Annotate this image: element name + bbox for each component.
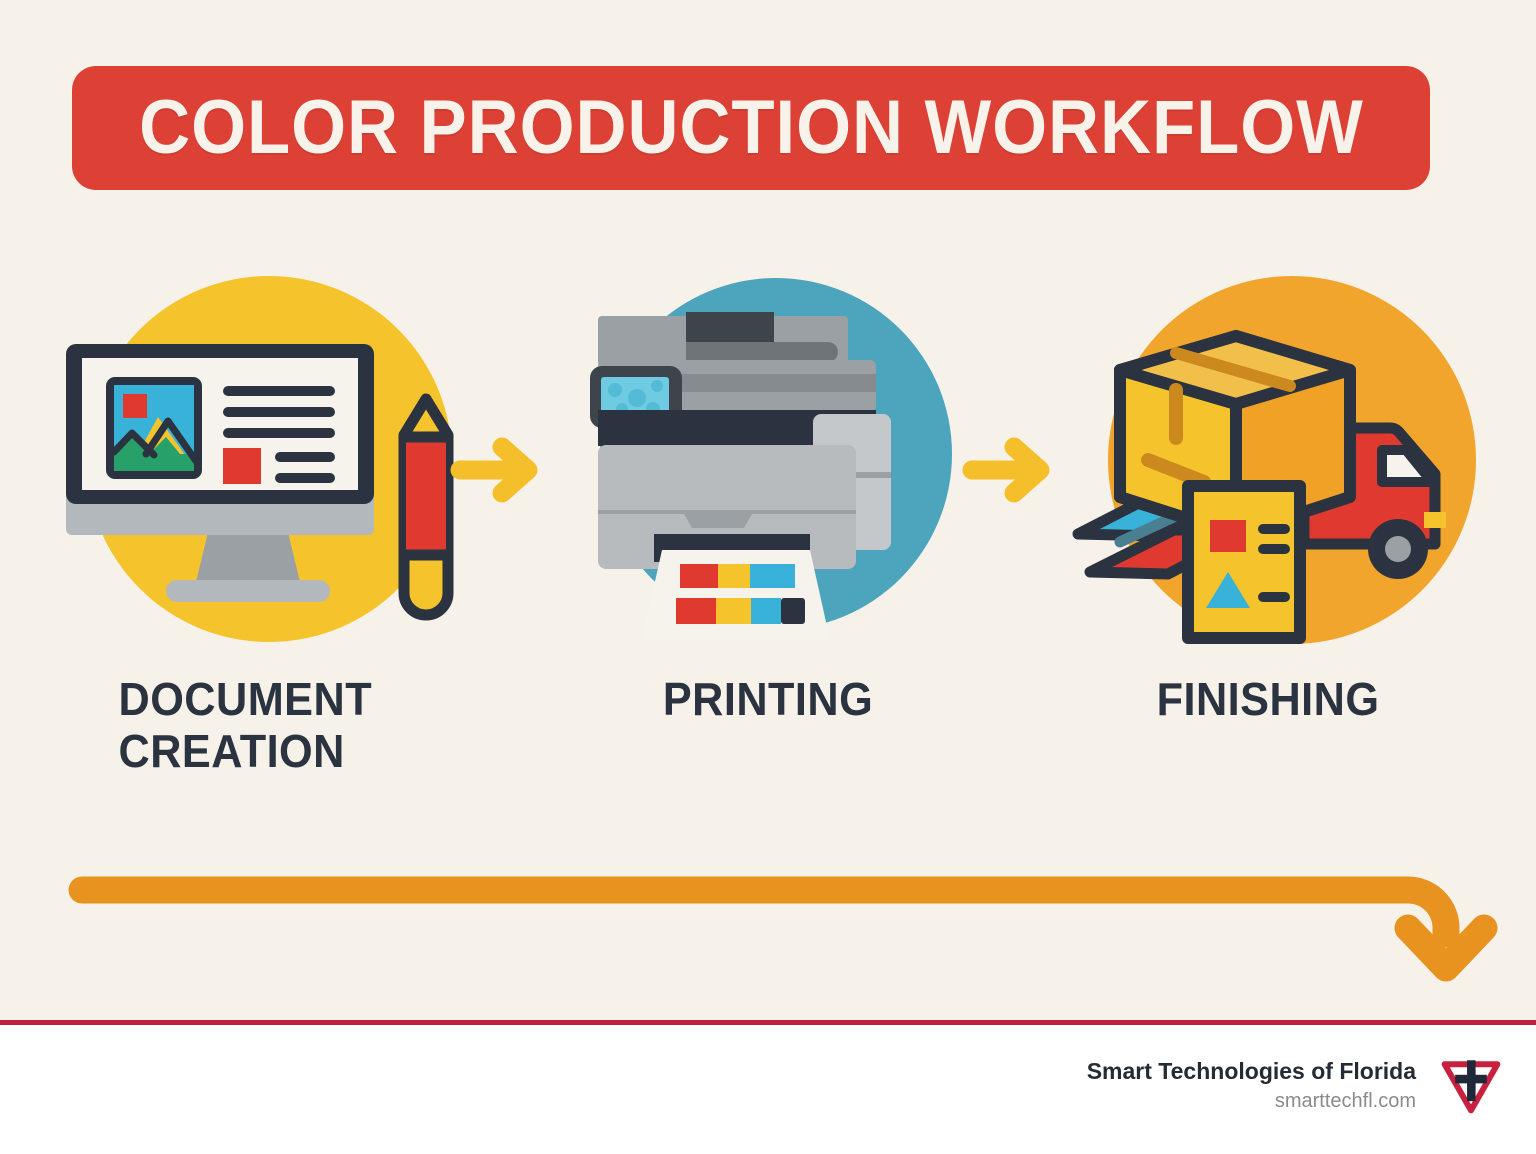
workflow-steps: DOCUMENT CREATION — [0, 262, 1536, 822]
step-1-label-line-1: DOCUMENT — [119, 674, 448, 726]
title-banner: COLOR PRODUCTION WORKFLOW — [72, 66, 1430, 190]
arrow-step2-to-step3-icon — [962, 425, 1072, 515]
infographic-canvas: COLOR PRODUCTION WORKFLOW — [0, 0, 1536, 1154]
box-truck-print-samples-icon — [1058, 262, 1478, 682]
step-printing[interactable]: PRINTING — [558, 262, 978, 726]
step-document-creation[interactable]: DOCUMENT CREATION — [38, 262, 458, 777]
pencil-icon — [404, 399, 448, 615]
multifunction-printer-icon — [558, 262, 978, 682]
monitor-design-pencil-icon — [38, 262, 458, 682]
footer-text: Smart Technologies of Florida smarttechf… — [1087, 1057, 1416, 1115]
website-url[interactable]: smarttechfl.com — [1087, 1088, 1416, 1115]
triangle-cross-logo-icon — [1438, 1055, 1504, 1117]
step-2-label: PRINTING — [571, 674, 966, 726]
cmyk-output-sheet — [642, 550, 830, 640]
step-3-label: FINISHING — [1071, 674, 1466, 726]
company-name: Smart Technologies of Florida — [1087, 1057, 1416, 1086]
step-3-icon-wrap — [1058, 262, 1478, 682]
step-1-label-line-2: CREATION — [119, 726, 448, 778]
page-title: COLOR PRODUCTION WORKFLOW — [139, 90, 1364, 166]
step-1-icon-wrap — [38, 262, 458, 682]
printed-flyer-icon — [1188, 486, 1300, 638]
footer-inner: Smart Technologies of Florida smarttechf… — [1087, 1055, 1504, 1117]
step-finishing[interactable]: FINISHING — [1058, 262, 1478, 726]
workflow-flow-arrow-icon — [60, 860, 1500, 1000]
footer: Smart Technologies of Florida smarttechf… — [0, 1025, 1536, 1154]
step-1-label: DOCUMENT CREATION — [119, 674, 448, 777]
step-2-icon-wrap — [558, 262, 978, 682]
arrow-step1-to-step2-icon — [450, 425, 560, 515]
